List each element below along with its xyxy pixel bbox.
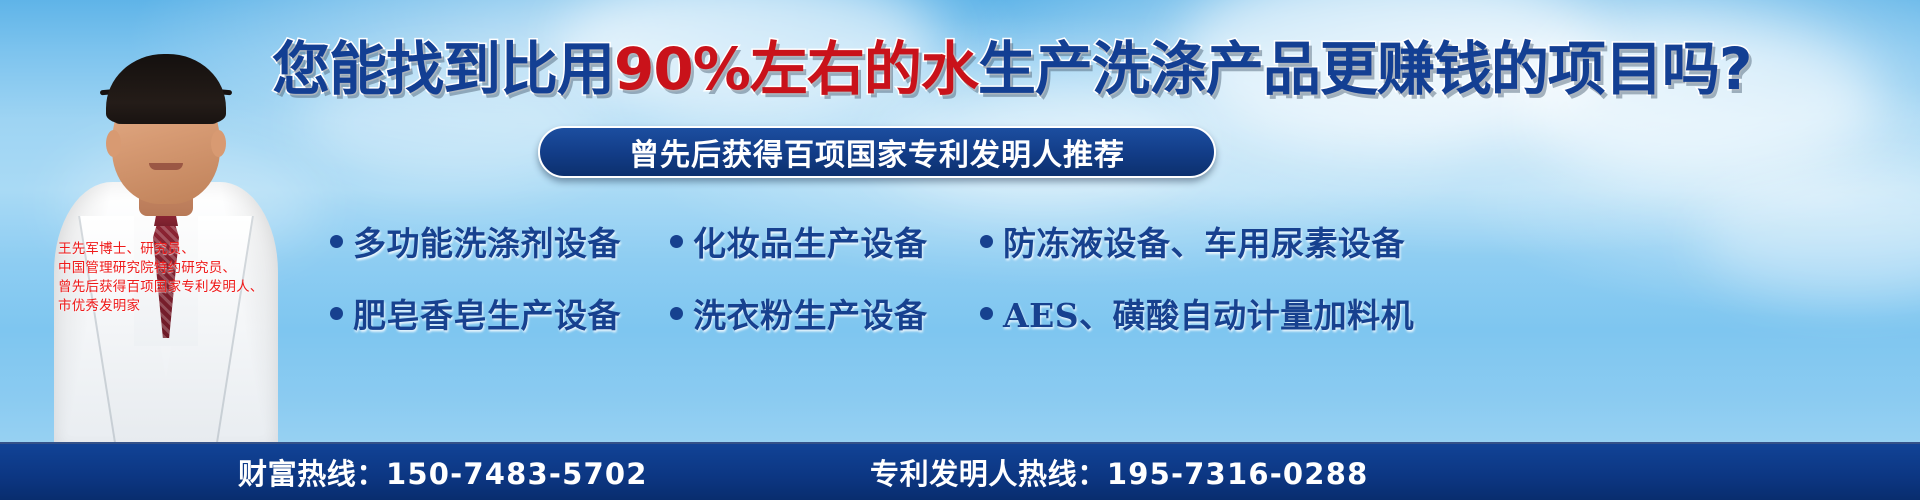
presenter-figure <box>48 12 284 442</box>
product-item: 肥皂香皂生产设备 <box>330 289 670 337</box>
product-label: 肥皂香皂生产设备 <box>353 289 621 337</box>
product-item: 防冻液设备、车用尿素设备 <box>980 217 1405 265</box>
headline: 您能找到比用90%左右的水生产洗涤产品更赚钱的项目吗? <box>272 36 1872 102</box>
promotional-banner: 王先军博士、研究员、 中国管理研究院特约研究员、 曾先后获得百项国家专利发明人、… <box>0 0 1920 500</box>
credential-line-1: 王先军博士、研究员、 <box>58 240 273 259</box>
presenter-credentials: 王先军博士、研究员、 中国管理研究院特约研究员、 曾先后获得百项国家专利发明人、… <box>58 240 273 316</box>
product-label: 防冻液设备、车用尿素设备 <box>1003 217 1405 265</box>
headline-segment-3: 生产洗涤产品更赚钱的项目吗? <box>978 35 1752 103</box>
credential-line-4: 市优秀发明家 <box>58 297 273 316</box>
bullet-icon <box>670 235 683 248</box>
bullet-icon <box>330 307 343 320</box>
presenter-photo <box>40 0 300 442</box>
wealth-hotline[interactable]: 财富热线：150-7483-5702 <box>238 451 648 493</box>
patent-hotline-label: 专利发明人热线： <box>870 457 1107 491</box>
product-row-1: 多功能洗涤剂设备 化妆品生产设备 防冻液设备、车用尿素设备 <box>330 205 1890 277</box>
contact-bar: 财富热线：150-7483-5702 专利发明人热线：195-7316-0288 <box>0 442 1920 500</box>
wealth-hotline-number[interactable]: 150-7483-5702 <box>386 457 648 491</box>
product-item: 化妆品生产设备 <box>670 217 980 265</box>
hair <box>106 54 226 124</box>
product-label: 多功能洗涤剂设备 <box>353 217 621 265</box>
mouth <box>149 163 183 170</box>
patent-hotline-number[interactable]: 195-7316-0288 <box>1107 457 1369 491</box>
endorsement-badge: 曾先后获得百项国家专利发明人推荐 <box>538 126 1216 178</box>
product-label: AES、磺酸自动计量加料机 <box>1003 289 1414 337</box>
product-list: 多功能洗涤剂设备 化妆品生产设备 防冻液设备、车用尿素设备 肥皂香皂生产设备 洗… <box>330 205 1890 349</box>
headline-segment-highlight: 90%左右的水 <box>614 35 978 103</box>
bullet-icon <box>980 235 993 248</box>
credential-line-2: 中国管理研究院特约研究员、 <box>58 259 273 278</box>
ear-right <box>211 130 226 157</box>
credential-line-3: 曾先后获得百项国家专利发明人、 <box>58 278 273 297</box>
ear-left <box>106 130 121 157</box>
product-item: 洗衣粉生产设备 <box>670 289 980 337</box>
endorsement-badge-label: 曾先后获得百项国家专利发明人推荐 <box>629 130 1125 174</box>
bullet-icon <box>670 307 683 320</box>
patent-hotline[interactable]: 专利发明人热线：195-7316-0288 <box>870 451 1368 493</box>
product-label: 化妆品生产设备 <box>693 217 928 265</box>
wealth-hotline-label: 财富热线： <box>238 457 386 491</box>
product-item: AES、磺酸自动计量加料机 <box>980 289 1414 337</box>
bullet-icon <box>980 307 993 320</box>
product-label: 洗衣粉生产设备 <box>693 289 928 337</box>
headline-segment-1: 您能找到比用 <box>272 35 614 103</box>
bullet-icon <box>330 235 343 248</box>
product-row-2: 肥皂香皂生产设备 洗衣粉生产设备 AES、磺酸自动计量加料机 <box>330 277 1890 349</box>
product-item: 多功能洗涤剂设备 <box>330 217 670 265</box>
